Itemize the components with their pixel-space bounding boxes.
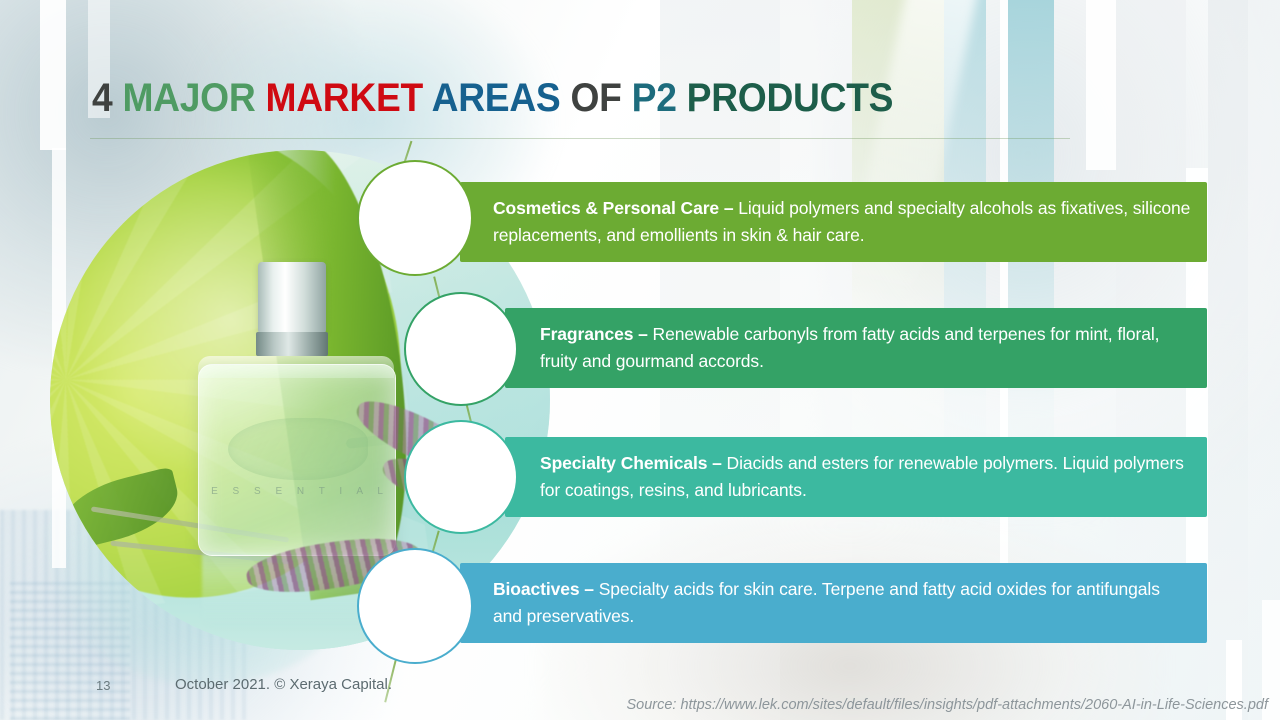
market-area-dash-fragrances: – <box>633 324 652 344</box>
market-area-text-bioactives: Bioactives – Specialty acids for skin ca… <box>493 576 1193 630</box>
title-word-1: MAJOR <box>122 76 265 120</box>
market-area-label-specialty-chemicals: Specialty Chemicals <box>540 453 707 473</box>
market-area-node-bioactives[interactable] <box>357 548 473 664</box>
market-area-dash-bioactives: – <box>580 579 599 599</box>
market-area-text-specialty-chemicals: Specialty Chemicals – Diacids and esters… <box>540 450 1193 504</box>
bottle-cap <box>258 262 326 334</box>
title-word-3: AREAS <box>432 76 571 120</box>
footer-note: October 2021. © Xeraya Capital. <box>175 676 392 693</box>
market-area-dash-specialty-chemicals: – <box>707 453 726 473</box>
market-area-bar-cosmetics[interactable]: Cosmetics & Personal Care – Liquid polym… <box>460 182 1207 262</box>
title-word-5: P2 <box>632 76 687 120</box>
title-word-4: OF <box>570 76 631 120</box>
slide-canvas: 4 MAJOR MARKET AREAS OF P2 PRODUCTS E S … <box>0 0 1280 720</box>
market-area-node-fragrances[interactable] <box>404 292 518 406</box>
title-word-2: MARKET <box>265 76 431 120</box>
market-area-label-cosmetics: Cosmetics & Personal Care <box>493 198 719 218</box>
page-number: 13 <box>96 678 110 693</box>
market-area-text-fragrances: Fragrances – Renewable carbonyls from fa… <box>540 321 1193 375</box>
market-area-node-specialty-chemicals[interactable] <box>404 420 518 534</box>
market-area-label-bioactives: Bioactives <box>493 579 580 599</box>
title-underline <box>90 138 1070 139</box>
market-area-node-cosmetics[interactable] <box>357 160 473 276</box>
background-panel-13 <box>1208 0 1248 700</box>
market-area-bar-bioactives[interactable]: Bioactives – Specialty acids for skin ca… <box>460 563 1207 643</box>
background-panel-10 <box>1086 0 1116 170</box>
bottle-label: E S S E N T I A L <box>210 486 390 497</box>
market-area-bar-fragrances[interactable]: Fragrances – Renewable carbonyls from fa… <box>505 308 1207 388</box>
source-citation: Source: https://www.lek.com/sites/defaul… <box>626 697 1268 713</box>
title-word-0: 4 <box>92 76 122 120</box>
crocodile-logo-icon <box>228 418 368 480</box>
page-title: 4 MAJOR MARKET AREAS OF P2 PRODUCTS <box>92 74 893 122</box>
market-area-label-fragrances: Fragrances <box>540 324 633 344</box>
market-area-dash-cosmetics: – <box>719 198 738 218</box>
background-panel-1 <box>40 0 66 150</box>
market-area-bar-specialty-chemicals[interactable]: Specialty Chemicals – Diacids and esters… <box>505 437 1207 517</box>
title-word-6: PRODUCTS <box>687 76 894 120</box>
market-area-text-cosmetics: Cosmetics & Personal Care – Liquid polym… <box>493 195 1193 249</box>
bottle-neck <box>256 332 328 356</box>
